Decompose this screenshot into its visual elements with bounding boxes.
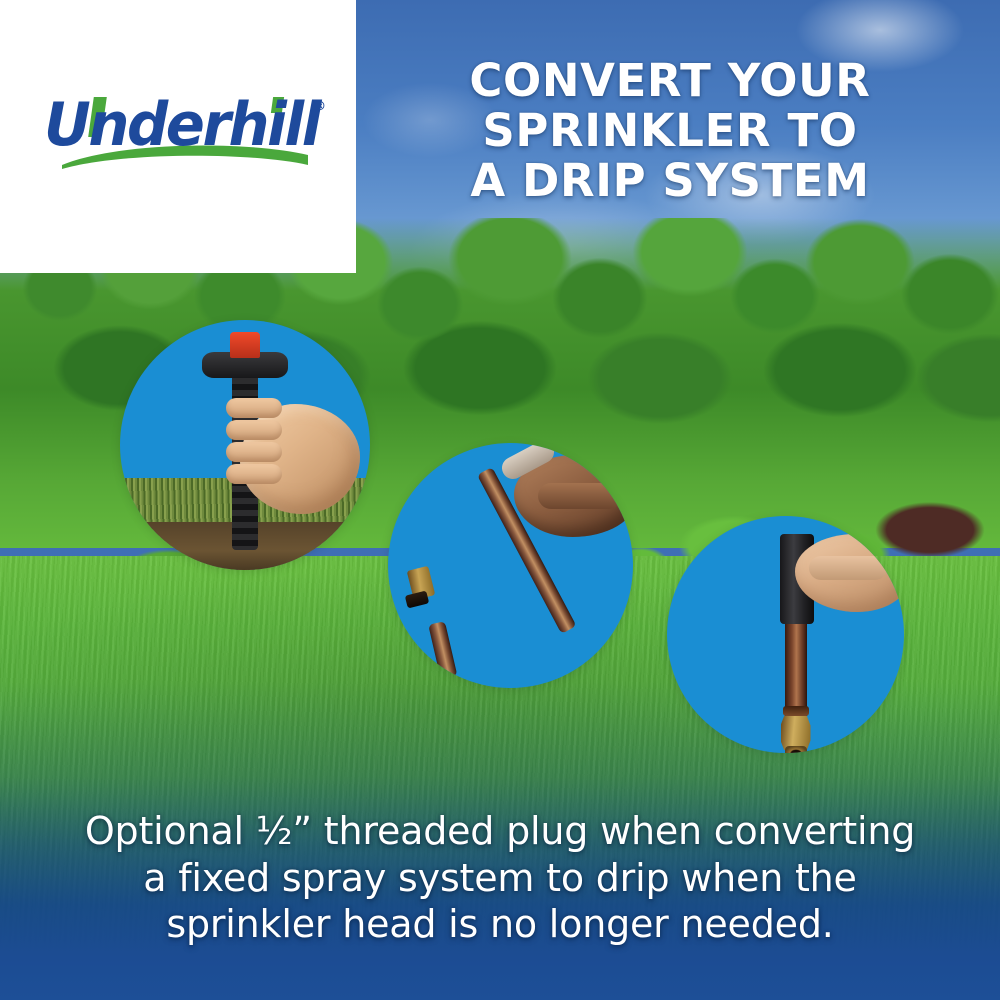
- logo-panel: Underhill ®: [0, 0, 356, 273]
- finger-3: [226, 442, 282, 462]
- headline-line-1: CONVERT YOUR: [420, 56, 920, 106]
- headline-line-2: SPRINKLER TO: [420, 106, 920, 156]
- headline: CONVERT YOUR SPRINKLER TO A DRIP SYSTEM: [420, 56, 920, 206]
- caption-line-3: sprinkler head is no longer needed.: [28, 901, 972, 948]
- logo-wordmark: Underhill: [44, 95, 319, 155]
- caption-line-2: a fixed spray system to drip when the: [28, 855, 972, 902]
- finger-4: [226, 464, 282, 484]
- sprinkler-red-cap: [230, 332, 260, 358]
- underhill-logo: Underhill ®: [44, 95, 312, 173]
- brass-hex-fitting: [781, 716, 811, 750]
- caption: Optional ½” threaded plug when convertin…: [28, 808, 972, 948]
- finger-1: [226, 398, 282, 418]
- bubble-riser-held: [388, 443, 633, 688]
- bubble-riser-vertical: [667, 516, 904, 753]
- hand-knuckles: [809, 556, 887, 580]
- riser-ring: [783, 706, 809, 716]
- product-infographic: Underhill ® CONVERT YOUR SPRINKLER TO A …: [0, 0, 1000, 1000]
- brass-plug-opening: [405, 591, 429, 609]
- bubble-sprinkler-pull: [120, 320, 370, 570]
- brass-fitting-opening: [785, 746, 807, 753]
- hand-knuckles: [538, 483, 622, 509]
- caption-line-1: Optional ½” threaded plug when convertin…: [28, 808, 972, 855]
- finger-2: [226, 420, 282, 440]
- headline-line-3: A DRIP SYSTEM: [420, 156, 920, 206]
